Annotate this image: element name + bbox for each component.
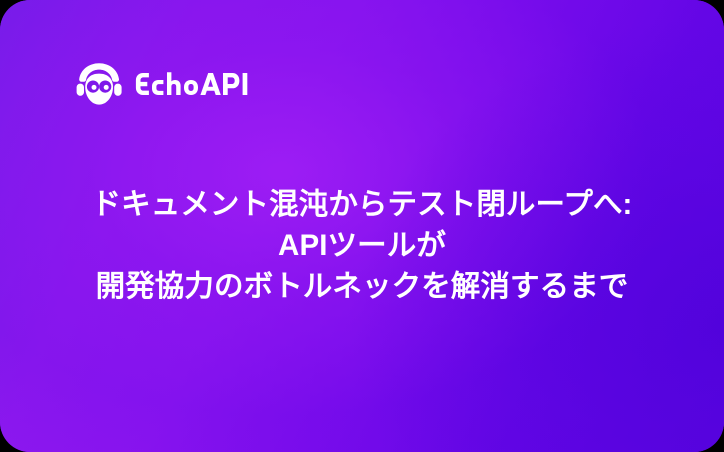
banner-card: ドキュメント混沌からテスト閉ループへ: APIツールが 開発協力のボトルネックを… (0, 0, 724, 452)
echoapi-wordmark (134, 69, 256, 99)
brand-logo-lockup[interactable] (73, 58, 256, 110)
echoapi-owl-mascot-icon (73, 58, 125, 110)
headline-line-1: ドキュメント混沌からテスト閉ループへ: (26, 184, 698, 225)
headline-line-2: APIツールが (26, 225, 698, 266)
headline-line-3: 開発協力のボトルネックを解消するまで (26, 266, 698, 307)
headline: ドキュメント混沌からテスト閉ループへ: APIツールが 開発協力のボトルネックを… (0, 184, 724, 307)
